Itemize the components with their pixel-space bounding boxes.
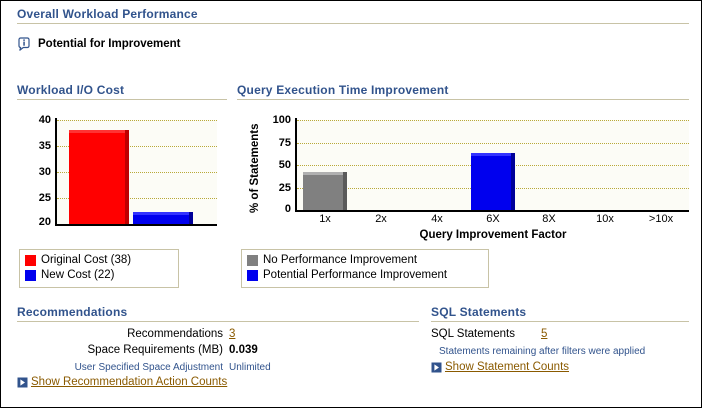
right-chart-y-axis-title: % of Statements (249, 124, 261, 213)
legend-item-no-improvement: No Performance Improvement (247, 253, 483, 268)
legend-swatch-potential-improvement (247, 270, 258, 281)
space-requirements-value-wrap: 0.039 (229, 344, 258, 356)
recommendations-count-row: Recommendations (15, 328, 223, 340)
space-requirements-label: Space Requirements (MB) (88, 344, 224, 356)
status-row: Potential for Improvement (17, 37, 181, 51)
ytick-0: 0 (259, 204, 291, 215)
workload-io-cost-plot (57, 120, 217, 224)
right-chart-y-axis (295, 118, 297, 212)
space-requirements-value: 0.039 (229, 344, 258, 356)
page-title: Overall Workload Performance (17, 7, 198, 21)
ytick-50: 50 (259, 160, 291, 171)
bar-1x-no-improvement (303, 172, 347, 210)
ytick-25: 25 (19, 193, 51, 204)
recommendations-count-value[interactable]: 3 (229, 328, 235, 340)
query-execution-legend: No Performance Improvement Potential Per… (241, 249, 489, 288)
ytick-75: 75 (259, 138, 291, 149)
bar-6x-potential-improvement (471, 153, 515, 210)
xtick-gt10x: >10x (633, 214, 689, 225)
right-chart-x-axis-title: Query Improvement Factor (297, 229, 689, 241)
ytick-100: 100 (259, 115, 291, 126)
legend-label-potential-improvement: Potential Performance Improvement (263, 269, 447, 282)
ytick-25: 25 (259, 183, 291, 194)
left-chart-x-axis (55, 224, 217, 226)
recommendations-count-label: Recommendations (127, 328, 223, 340)
sql-statements-count-row: SQL Statements (431, 328, 515, 340)
sql-statements-count-value[interactable]: 5 (541, 328, 547, 340)
xtick-2x: 2x (353, 214, 409, 225)
right-chart-x-axis (295, 210, 689, 212)
xtick-1x: 1x (297, 214, 353, 225)
query-execution-heading: Query Execution Time Improvement (237, 83, 449, 97)
xtick-6x: 6X (465, 214, 521, 225)
recommendations-count-value-wrap: 3 (229, 328, 235, 340)
query-execution-plot (297, 120, 689, 210)
ytick-35: 35 (19, 141, 51, 152)
workload-io-cost-heading: Workload I/O Cost (17, 83, 124, 97)
triangle-right-icon (17, 377, 28, 388)
show-statement-counts-text: Show Statement Counts (445, 361, 569, 373)
space-adjustment-label: User Specified Space Adjustment (15, 362, 223, 373)
sql-statements-note: Statements remaining after filters were … (439, 346, 645, 357)
status-text: Potential for Improvement (38, 38, 181, 50)
info-icon (17, 37, 31, 51)
legend-item-new-cost: New Cost (22) (25, 268, 173, 283)
workload-performance-panel: Overall Workload Performance Potential f… (0, 0, 702, 408)
recommendations-heading: Recommendations (17, 305, 127, 319)
gridline-100 (297, 120, 689, 121)
show-recommendation-action-counts-text: Show Recommendation Action Counts (31, 376, 227, 388)
show-recommendation-action-counts-link[interactable]: Show Recommendation Action Counts (17, 376, 227, 388)
sql-statements-count-value-wrap: 5 (541, 328, 547, 340)
legend-swatch-new-cost (25, 270, 36, 281)
legend-item-potential-improvement: Potential Performance Improvement (247, 268, 483, 283)
legend-label-new-cost: New Cost (22) (41, 269, 115, 282)
sql-statements-heading: SQL Statements (431, 305, 526, 319)
bar-original-cost (69, 130, 129, 224)
ytick-40: 40 (19, 115, 51, 126)
gridline-40 (57, 120, 217, 121)
legend-label-original-cost: Original Cost (38) (41, 254, 131, 267)
legend-item-original-cost: Original Cost (38) (25, 253, 173, 268)
xtick-8x: 8X (521, 214, 577, 225)
xtick-10x: 10x (577, 214, 633, 225)
ytick-30: 30 (19, 167, 51, 178)
triangle-right-icon (431, 362, 442, 373)
xtick-4x: 4x (409, 214, 465, 225)
gridline-75 (297, 143, 689, 144)
query-execution-rule (237, 99, 689, 100)
page-title-rule (17, 23, 689, 24)
workload-io-cost-rule (17, 99, 227, 100)
left-chart-y-axis (55, 118, 57, 226)
space-requirements-row: Space Requirements (MB) (15, 344, 223, 356)
ytick-20: 20 (19, 217, 51, 228)
space-adjustment-value: Unlimited (229, 362, 271, 373)
recommendations-rule (17, 321, 419, 322)
show-statement-counts-link[interactable]: Show Statement Counts (431, 361, 569, 373)
workload-io-cost-legend: Original Cost (38) New Cost (22) (19, 249, 179, 288)
sql-statements-count-label: SQL Statements (431, 328, 515, 340)
bar-new-cost (133, 212, 193, 224)
legend-swatch-no-improvement (247, 255, 258, 266)
legend-label-no-improvement: No Performance Improvement (263, 254, 417, 267)
legend-swatch-original-cost (25, 255, 36, 266)
sql-statements-rule (431, 321, 689, 322)
